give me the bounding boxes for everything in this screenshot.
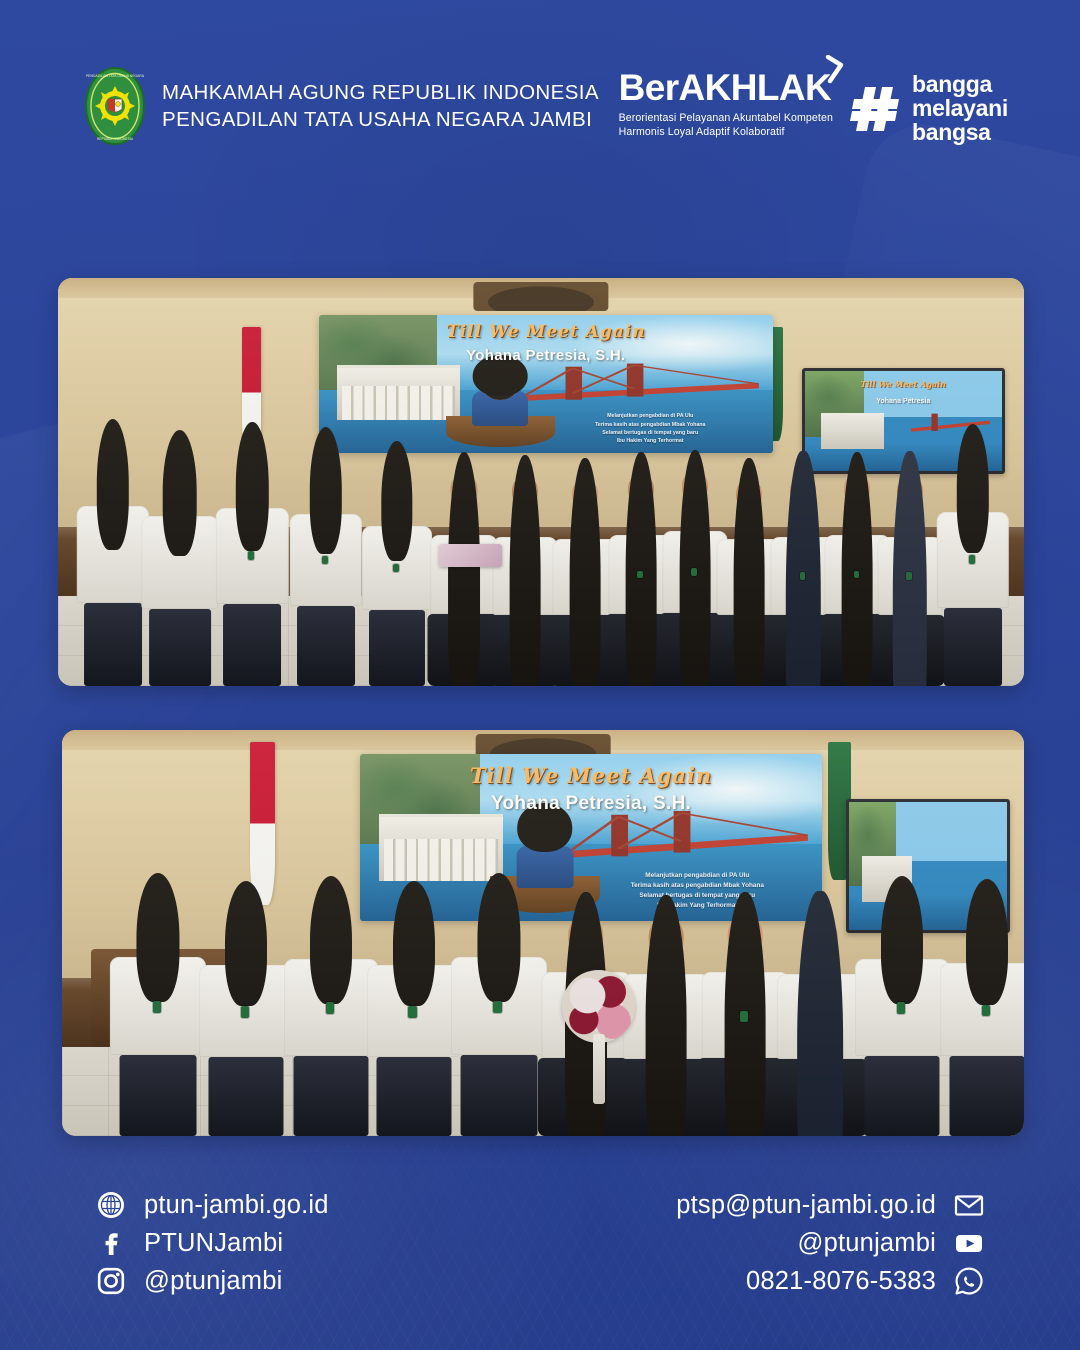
indonesian-flag <box>250 742 275 904</box>
id-badge <box>393 564 399 573</box>
group-photo-top: Till We Meet Again Yohana Petresia, S.H.… <box>58 278 1024 686</box>
person-hair <box>309 427 341 554</box>
contact-whatsapp-text: 0821-8076-5383 <box>746 1267 936 1296</box>
person-figure <box>572 479 598 686</box>
person-trousers <box>223 604 281 686</box>
person-hair <box>881 876 923 1004</box>
person-figure <box>450 474 477 686</box>
contact-website[interactable]: ptun-jambi.go.id <box>96 1186 329 1224</box>
id-badge <box>326 1002 334 1013</box>
instagram-icon <box>96 1266 126 1296</box>
banner-honoree-name: Yohana Petresia, S.H. <box>360 793 822 815</box>
courtroom-scene-top: Till We Meet Again Yohana Petresia, S.H.… <box>58 278 1024 686</box>
person-hair <box>162 430 197 556</box>
banner-caricature <box>513 808 578 888</box>
berakhlak-tagline-2: Harmonis Loyal Adaptif Kolaboratif <box>619 126 833 140</box>
courtroom-scene-bottom: Till We Meet Again Yohana Petresia, S.H.… <box>62 730 1024 1136</box>
contact-youtube[interactable]: @ptunjambi <box>676 1224 984 1262</box>
court-seal-icon: PENGADILAN TATA USAHA NEGARA REPUBLIK IN… <box>84 66 146 146</box>
id-badge <box>906 572 912 580</box>
contact-email-text: ptsp@ptun-jambi.go.id <box>676 1191 936 1220</box>
contact-website-text: ptun-jambi.go.id <box>144 1191 329 1220</box>
people-row-bottom <box>62 884 1024 1136</box>
people-row-top <box>58 433 1024 686</box>
contact-youtube-text: @ptunjambi <box>798 1229 936 1258</box>
person-figure <box>238 446 267 686</box>
person-figure <box>896 476 922 686</box>
bangga-line-1: bangga <box>912 73 1008 97</box>
bangga-wordmark: bangga melayani bangsa <box>912 73 1008 144</box>
hashtag-icon <box>849 81 905 137</box>
person-trousers <box>376 1057 451 1136</box>
person-figure <box>958 448 987 686</box>
globe-icon <box>96 1190 126 1220</box>
person-figure <box>844 474 870 686</box>
person-figure <box>395 904 433 1136</box>
person-figure <box>311 451 340 686</box>
id-badge <box>897 1002 905 1013</box>
bangga-line-2: melayani <box>912 97 1008 121</box>
person-figure <box>736 479 762 686</box>
svg-text:REPUBLIK INDONESIA: REPUBLIK INDONESIA <box>97 137 134 141</box>
id-badge <box>408 1006 416 1017</box>
id-badge <box>241 1006 249 1017</box>
banner-bridge-icon <box>523 362 759 409</box>
id-badge <box>800 572 806 580</box>
person-figure <box>227 904 265 1136</box>
group-photo-bottom: Till We Meet Again Yohana Petresia, S.H.… <box>62 730 1024 1136</box>
facebook-icon <box>96 1228 126 1258</box>
banner-courthouse <box>379 814 504 881</box>
person-hair <box>957 424 989 552</box>
person-figure <box>803 917 838 1136</box>
person-trousers <box>293 1056 368 1136</box>
person-figure <box>512 476 538 686</box>
berakhlak-logo: BerAKHLAK Berorientasi Pelayanan Akuntab… <box>619 67 833 140</box>
banner-bridge-icon <box>568 811 808 868</box>
tv-banner-name: Yohana Petresia <box>805 398 1002 405</box>
berakhlak-tagline-1: Berorientasi Pelayanan Akuntabel Kompete… <box>619 112 833 126</box>
footer-contact-bar: ptun-jambi.go.id PTUNJambi @ptunjambi <box>0 1174 1080 1324</box>
person-hair <box>646 895 687 1136</box>
tv-banner-title: Till We Meet Again <box>805 379 1002 389</box>
banner-honoree-name: Yohana Petresia, S.H. <box>319 347 773 364</box>
person-trousers <box>120 1055 197 1136</box>
contact-instagram-text: @ptunjambi <box>144 1267 282 1296</box>
person-figure <box>649 917 684 1136</box>
id-badge <box>740 1011 748 1022</box>
youtube-icon <box>954 1228 984 1258</box>
person-trousers <box>84 603 142 686</box>
id-badge <box>691 568 697 576</box>
person-figure <box>383 463 411 686</box>
id-badge <box>322 556 328 565</box>
person-hair <box>137 873 180 1002</box>
person-figure <box>139 897 177 1136</box>
email-icon <box>954 1190 984 1220</box>
person-hair <box>448 452 480 686</box>
id-badge <box>493 1001 501 1013</box>
person-hair <box>842 452 873 686</box>
person-trousers <box>209 1057 284 1136</box>
contact-instagram[interactable]: @ptunjambi <box>96 1262 329 1300</box>
person-figure <box>480 897 518 1136</box>
person-figure <box>968 902 1006 1136</box>
bangga-melayani-bangsa-logo: bangga melayani bangsa <box>849 67 1008 144</box>
person-hair <box>393 881 435 1006</box>
id-badge <box>637 571 643 579</box>
contact-email[interactable]: ptsp@ptun-jambi.go.id <box>676 1186 984 1224</box>
person-trousers <box>944 608 1002 686</box>
svg-text:PENGADILAN TATA USAHA NEGARA: PENGADILAN TATA USAHA NEGARA <box>86 74 145 78</box>
person-figure <box>790 476 816 686</box>
id-badge <box>248 551 254 560</box>
person-trousers <box>149 609 211 686</box>
garuda-crest-icon <box>473 282 608 311</box>
person-figure <box>164 453 195 686</box>
bangga-line-3: bangsa <box>912 121 1008 145</box>
id-badge <box>854 571 860 579</box>
person-hair <box>225 881 267 1006</box>
contact-whatsapp[interactable]: 0821-8076-5383 <box>676 1262 984 1300</box>
person-figure <box>628 474 654 686</box>
org-line-1: MAHKAMAH AGUNG REPUBLIK INDONESIA <box>162 81 599 105</box>
footer-left-contacts: ptun-jambi.go.id PTUNJambi @ptunjambi <box>96 1186 329 1300</box>
whatsapp-icon <box>954 1266 984 1296</box>
person-hair <box>477 873 520 1002</box>
person-hair <box>734 458 765 686</box>
banner-caricature <box>469 359 533 426</box>
contact-facebook[interactable]: PTUNJambi <box>96 1224 329 1262</box>
person-hair <box>966 879 1008 1005</box>
person-hair <box>510 455 541 686</box>
flower-bouquet <box>562 970 635 1043</box>
court-branding: PENGADILAN TATA USAHA NEGARA REPUBLIK IN… <box>84 66 599 146</box>
header: PENGADILAN TATA USAHA NEGARA REPUBLIK IN… <box>0 58 1080 154</box>
gift-box <box>439 544 503 567</box>
person-trousers <box>949 1056 1024 1136</box>
id-badge <box>969 555 975 564</box>
org-line-2: PENGADILAN TATA USAHA NEGARA JAMBI <box>162 108 599 132</box>
person-trousers <box>865 1056 940 1136</box>
person-figure <box>884 899 922 1136</box>
person-figure <box>99 443 128 686</box>
person-figure <box>312 899 350 1136</box>
person-hair <box>626 452 657 686</box>
chevron-swoosh-icon <box>824 55 846 85</box>
person-hair <box>310 876 352 1004</box>
person-figure <box>728 915 763 1137</box>
person-hair <box>381 441 412 561</box>
person-hair <box>570 458 601 686</box>
banner-title: Till We Meet Again <box>319 322 773 342</box>
person-trousers <box>369 610 425 686</box>
person-figure <box>682 471 708 686</box>
berakhlak-wordmark: BerAKHLAK <box>619 69 833 106</box>
person-hijab <box>797 891 843 1136</box>
contact-facebook-text: PTUNJambi <box>144 1229 283 1258</box>
court-name-block: MAHKAMAH AGUNG REPUBLIK INDONESIA PENGAD… <box>162 81 599 132</box>
footer-right-contacts: ptsp@ptun-jambi.go.id @ptunjambi 0821-80… <box>676 1186 984 1300</box>
berakhlak-logo-group: BerAKHLAK Berorientasi Pelayanan Akuntab… <box>619 67 1008 144</box>
person-trousers <box>297 606 355 686</box>
person-hair <box>97 419 129 550</box>
banner-courthouse <box>337 365 460 420</box>
id-badge <box>153 1001 161 1013</box>
id-badge <box>982 1005 990 1016</box>
banner-title: Till We Meet Again <box>360 763 822 788</box>
person-trousers <box>460 1055 537 1136</box>
person-hair <box>236 422 268 552</box>
